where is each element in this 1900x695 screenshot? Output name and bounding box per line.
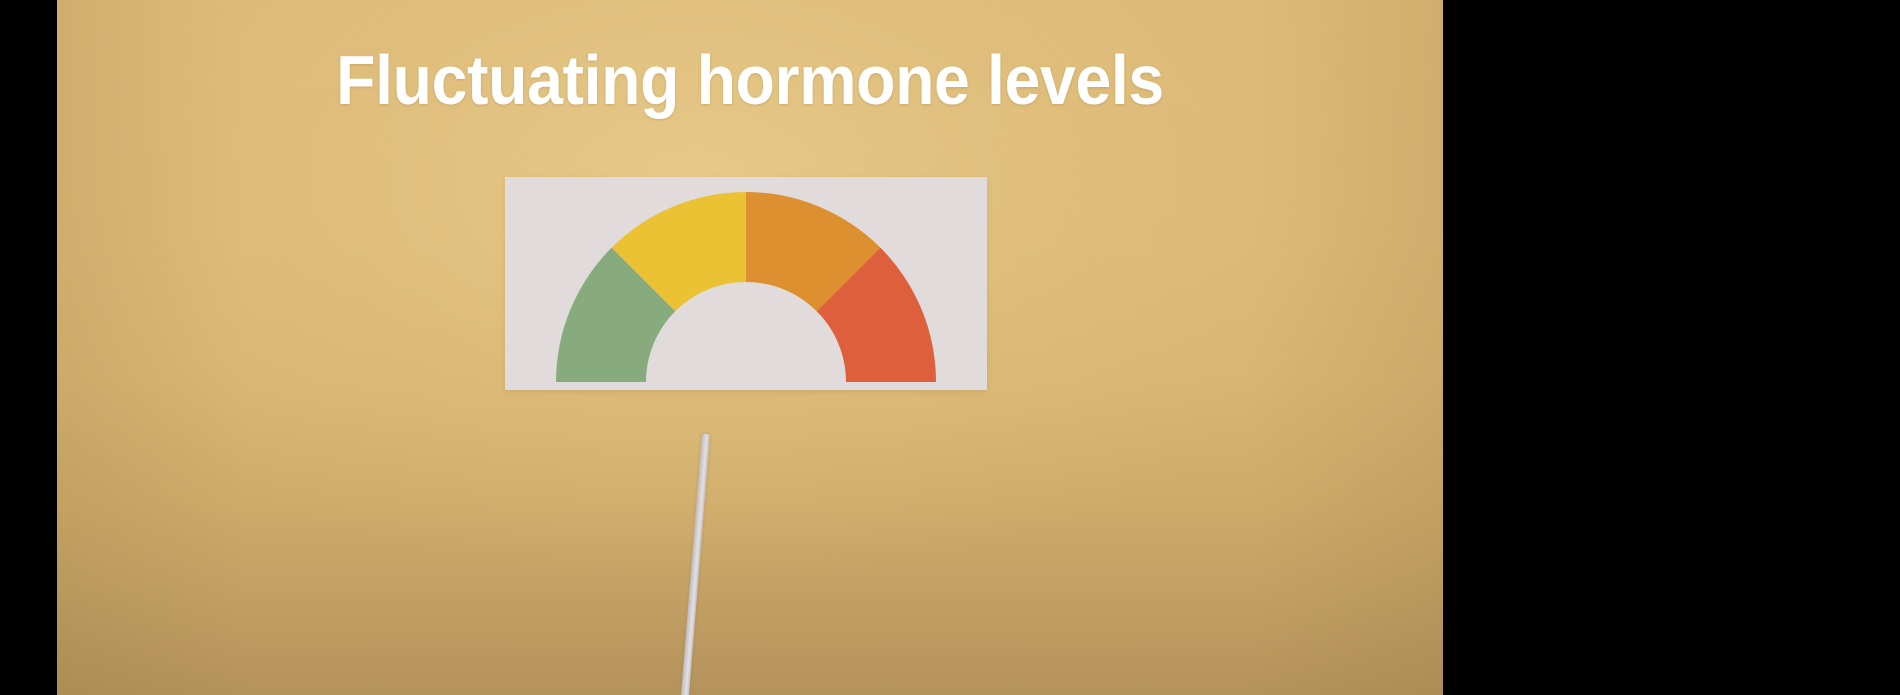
gauge-segments [556,192,936,382]
gauge-panel [505,177,987,390]
letterbox-right [1443,0,1900,695]
letterbox-left [0,0,57,695]
gauge-needle [681,434,710,695]
page-title: Fluctuating hormone levels [112,38,1387,122]
gauge-chart [505,177,987,390]
video-player-stage: Fluctuating hormone levels [0,0,1900,695]
gauge-svg [515,182,977,387]
video-frame: Fluctuating hormone levels [57,0,1443,695]
